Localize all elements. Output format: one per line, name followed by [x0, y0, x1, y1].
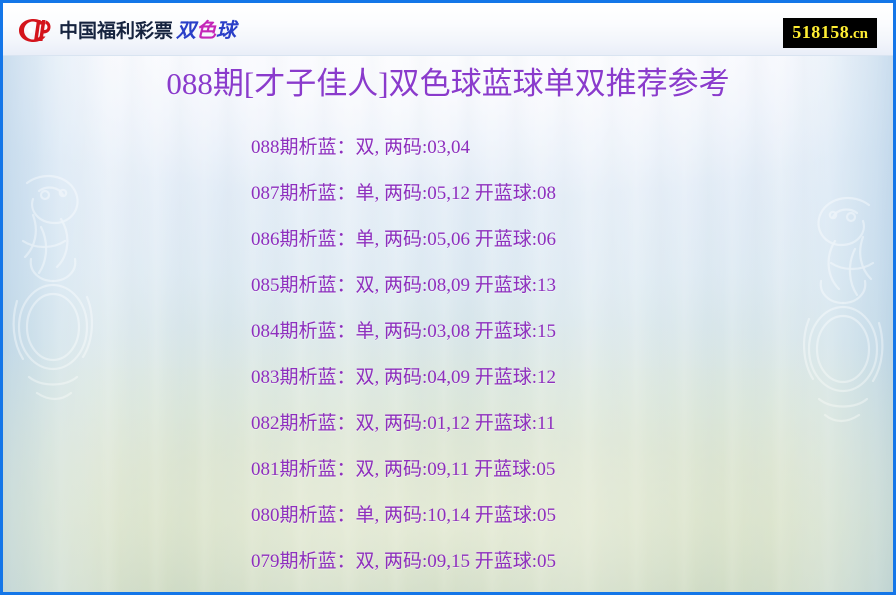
list-item: 088期析蓝：双, 两码:03,04 — [3, 125, 893, 171]
brand-ssq-char-1: 双 — [176, 18, 196, 42]
list-item: 081期析蓝：双, 两码:09,11 开蓝球:05 — [3, 447, 893, 493]
list-item: 083期析蓝：双, 两码:04,09 开蓝球:12 — [3, 355, 893, 401]
list-item: 085期析蓝：双, 两码:08,09 开蓝球:13 — [3, 263, 893, 309]
list-item: 084期析蓝：单, 两码:03,08 开蓝球:15 — [3, 309, 893, 355]
site-domain-name: 518158 — [792, 22, 849, 42]
site-watermark-badge[interactable]: 518158.cn — [783, 18, 877, 48]
page-title: 088期[才子佳人]双色球蓝球单双推荐参考 — [3, 63, 893, 105]
list-item: 079期析蓝：双, 两码:09,15 开蓝球:05 — [3, 539, 893, 585]
brand-ssq-char-3: 球 — [216, 18, 236, 42]
brand-name-cn: 中国福利彩票 — [59, 22, 173, 41]
list-item: 080期析蓝：单, 两码:10,14 开蓝球:05 — [3, 493, 893, 539]
china-welfare-lottery-emblem-icon — [17, 17, 51, 44]
list-item: 086期析蓝：单, 两码:05,06 开蓝球:06 — [3, 217, 893, 263]
list-item: 082期析蓝：双, 两码:01,12 开蓝球:11 — [3, 401, 893, 447]
list-item: 087期析蓝：单, 两码:05,12 开蓝球:08 — [3, 171, 893, 217]
page-root: 中国福利彩票双色球 518158.cn 088期[才子佳人]双色球蓝球单双推荐参… — [0, 0, 896, 595]
brand-logo[interactable]: 中国福利彩票双色球 — [17, 15, 236, 45]
brand-text: 中国福利彩票双色球 — [59, 20, 236, 41]
prediction-list: 088期析蓝：双, 两码:03,04 087期析蓝：单, 两码:05,12 开蓝… — [3, 125, 893, 585]
brand-ssq-char-2: 色 — [196, 18, 216, 42]
site-header: 中国福利彩票双色球 518158.cn — [3, 3, 893, 56]
site-domain-tld: .cn — [849, 26, 868, 42]
